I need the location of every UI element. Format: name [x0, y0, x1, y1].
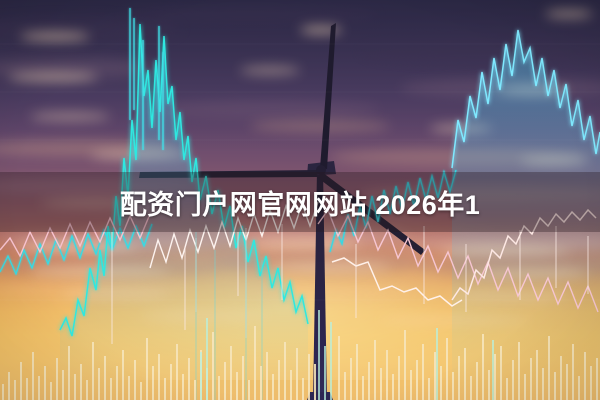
banner-image: 配资门户网官网网站 2026年1 — [0, 0, 600, 400]
white-descent-line — [332, 258, 462, 306]
banner-title: 配资门户网官网网站 2026年1 — [0, 172, 600, 232]
